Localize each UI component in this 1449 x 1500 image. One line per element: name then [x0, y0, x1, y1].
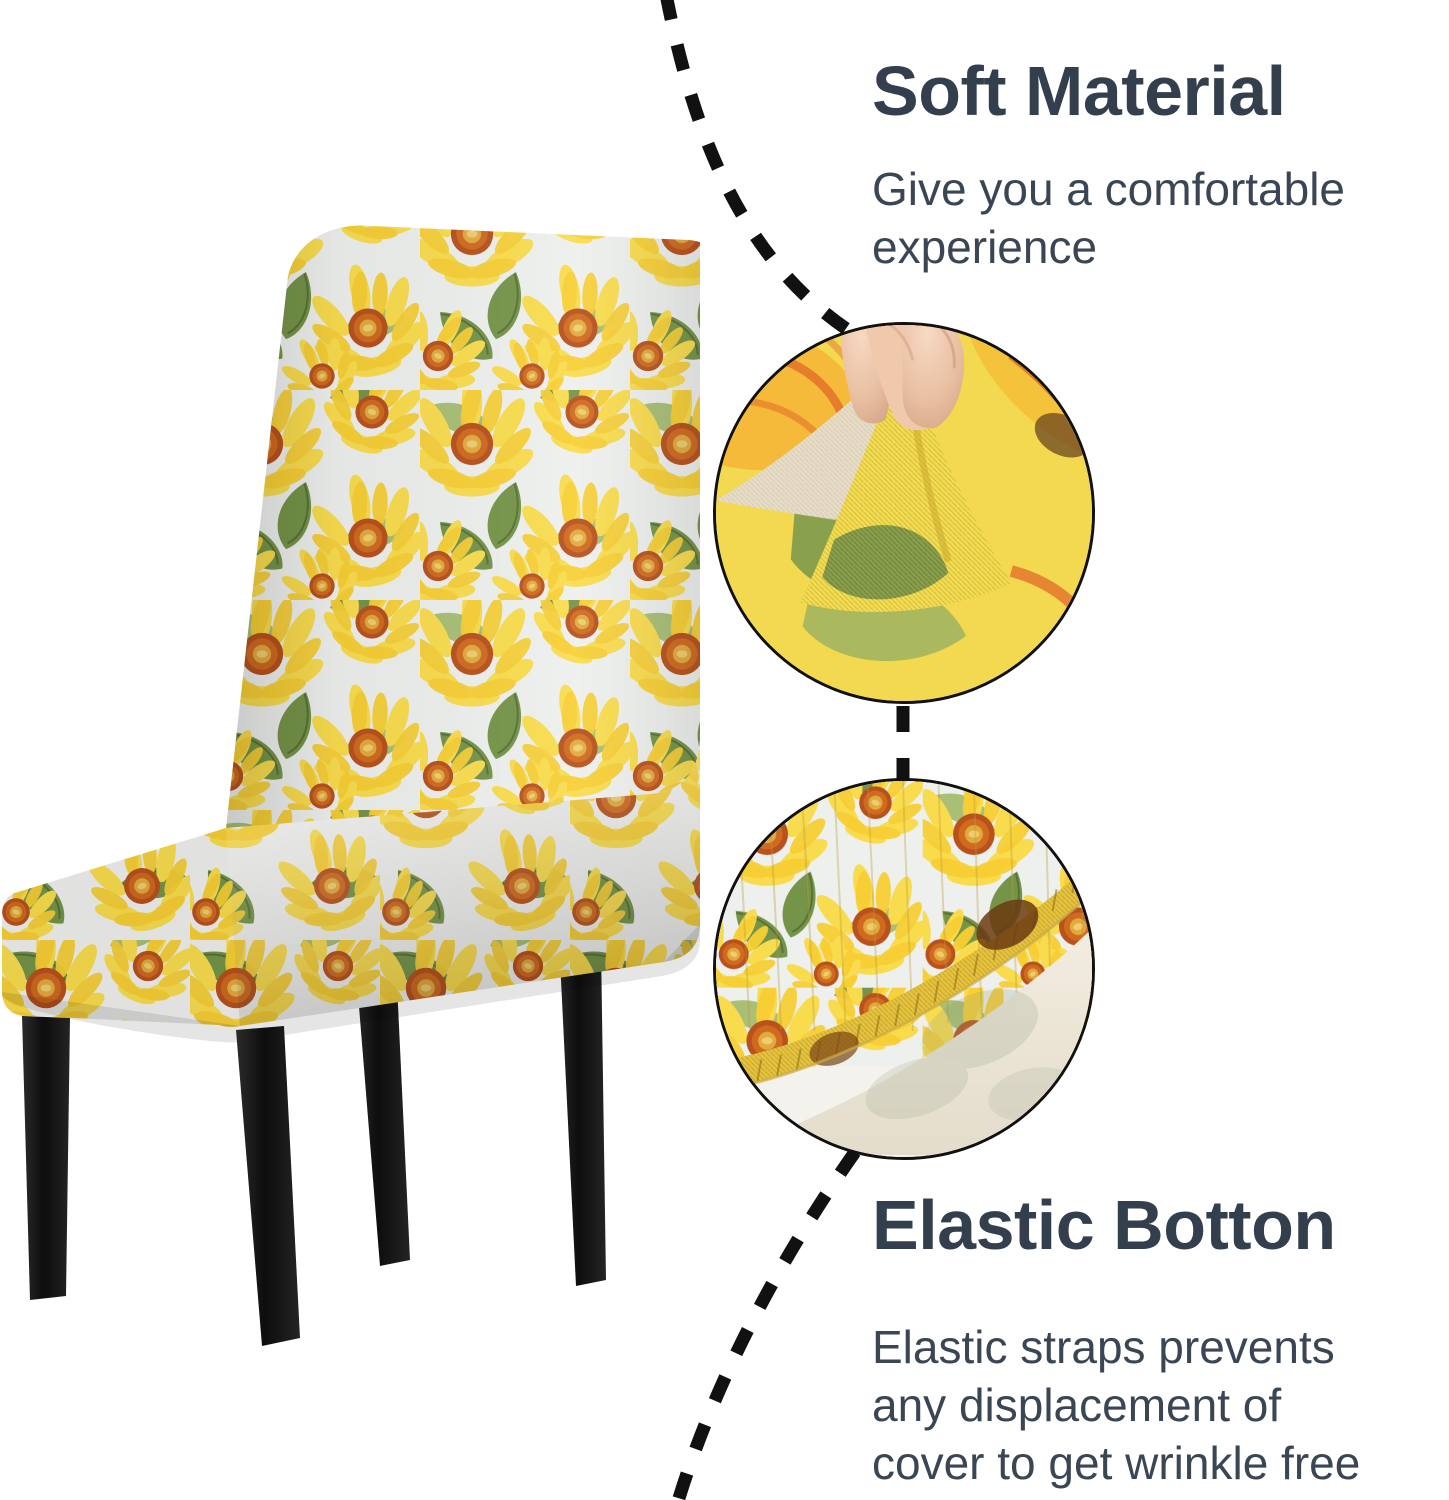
soft-material-description: Give you a comfortable experience	[872, 160, 1402, 276]
product-infographic: Soft Material Give you a comfortable exp…	[0, 0, 1449, 1500]
elastic-botton-description: Elastic straps prevents any displacement…	[872, 1318, 1402, 1500]
bottom-dashed-curve	[676, 1152, 855, 1500]
hand-pinch	[841, 325, 964, 430]
chair-backrest	[226, 225, 700, 870]
fabric-pinch-photo	[716, 325, 1092, 701]
soft-material-heading: Soft Material	[872, 52, 1286, 130]
chair-illustration	[0, 180, 700, 1360]
elastic-hem-callout	[713, 778, 1095, 1160]
elastic-botton-heading: Elastic Botton	[872, 1186, 1336, 1264]
chair-legs-front	[22, 1016, 300, 1346]
elastic-hem-photo	[716, 781, 1092, 1157]
fabric-pinch-callout	[713, 322, 1095, 704]
chair-product-photo	[0, 180, 700, 1360]
